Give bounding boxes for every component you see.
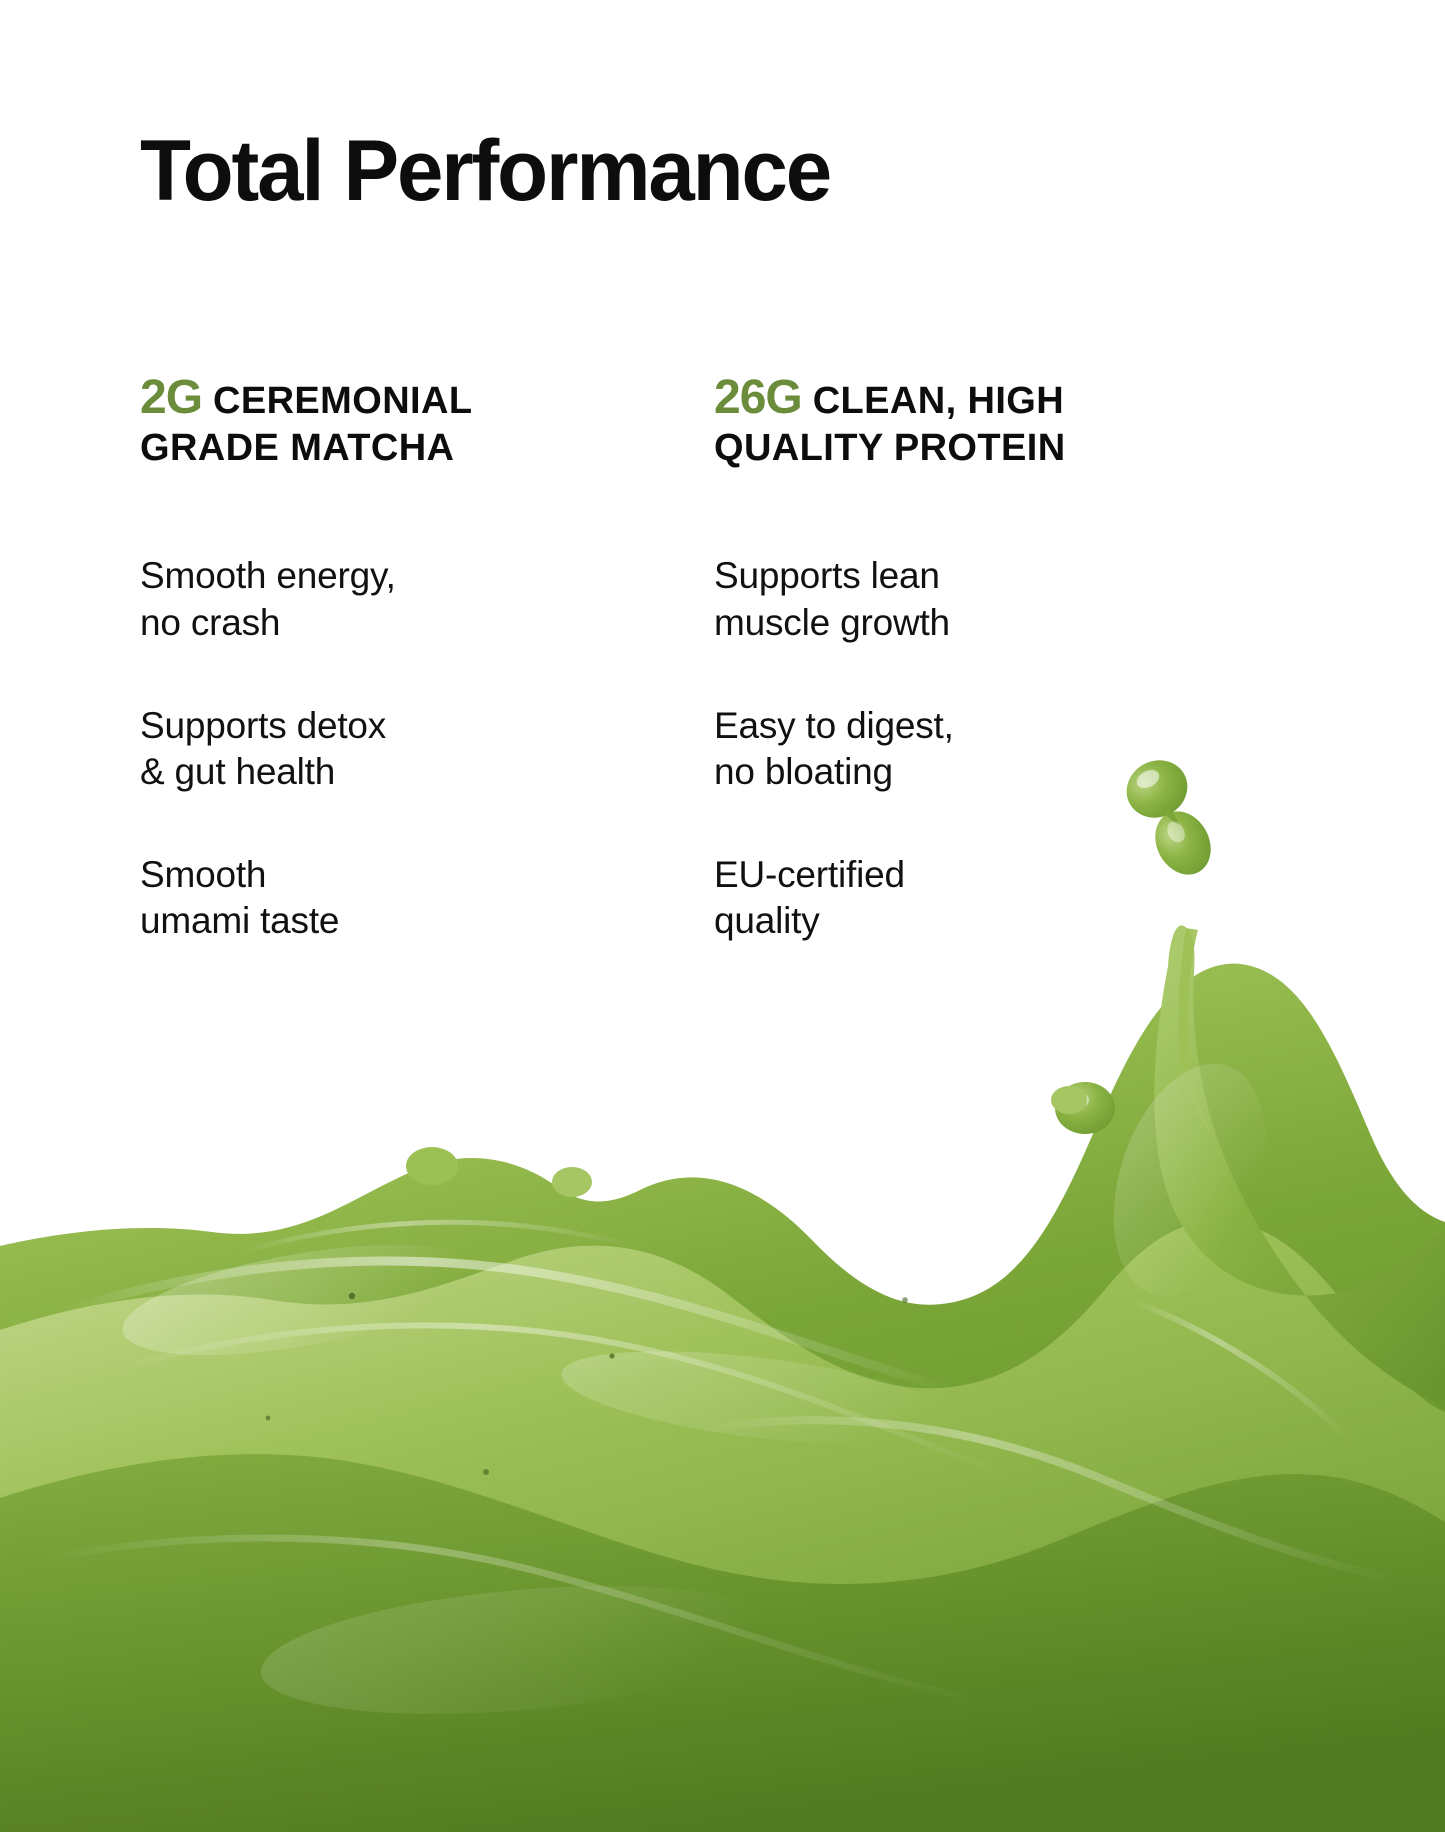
bullet-item: Supports detox & gut health <box>140 703 630 796</box>
bullet-list-matcha: Smooth energy, no crash Supports detox &… <box>140 553 630 945</box>
stat-label-line1-matcha: CEREMONIAL <box>213 380 472 422</box>
stat-amount-protein: 26G <box>714 371 802 424</box>
benefit-column-matcha: 2G CEREMONIAL GRADE MATCHA Smooth energy… <box>140 372 630 945</box>
bullet-item: Smooth energy, no crash <box>140 553 630 646</box>
stat-label-line2-protein: QUALITY PROTEIN <box>714 426 1204 472</box>
page-title: Total Performance <box>140 128 830 214</box>
bullet-item: Supports lean muscle growth <box>714 553 1204 646</box>
stat-heading-protein: 26G CLEAN, HIGH QUALITY PROTEIN <box>714 372 1204 471</box>
stat-amount-matcha: 2G <box>140 371 202 424</box>
stat-heading-matcha: 2G CEREMONIAL GRADE MATCHA <box>140 372 630 471</box>
content-layer: Total Performance 2G CEREMONIAL GRADE MA… <box>0 0 1445 1832</box>
benefits-columns: 2G CEREMONIAL GRADE MATCHA Smooth energy… <box>140 372 1240 945</box>
bullet-item: EU-certified quality <box>714 852 1204 945</box>
bullet-list-protein: Supports lean muscle growth Easy to dige… <box>714 553 1204 945</box>
stat-label-line1-protein: CLEAN, HIGH <box>813 380 1064 422</box>
benefit-column-protein: 26G CLEAN, HIGH QUALITY PROTEIN Supports… <box>714 372 1204 945</box>
bullet-item: Smooth umami taste <box>140 852 630 945</box>
stat-label-line2-matcha: GRADE MATCHA <box>140 426 630 472</box>
bullet-item: Easy to digest, no bloating <box>714 703 1204 796</box>
